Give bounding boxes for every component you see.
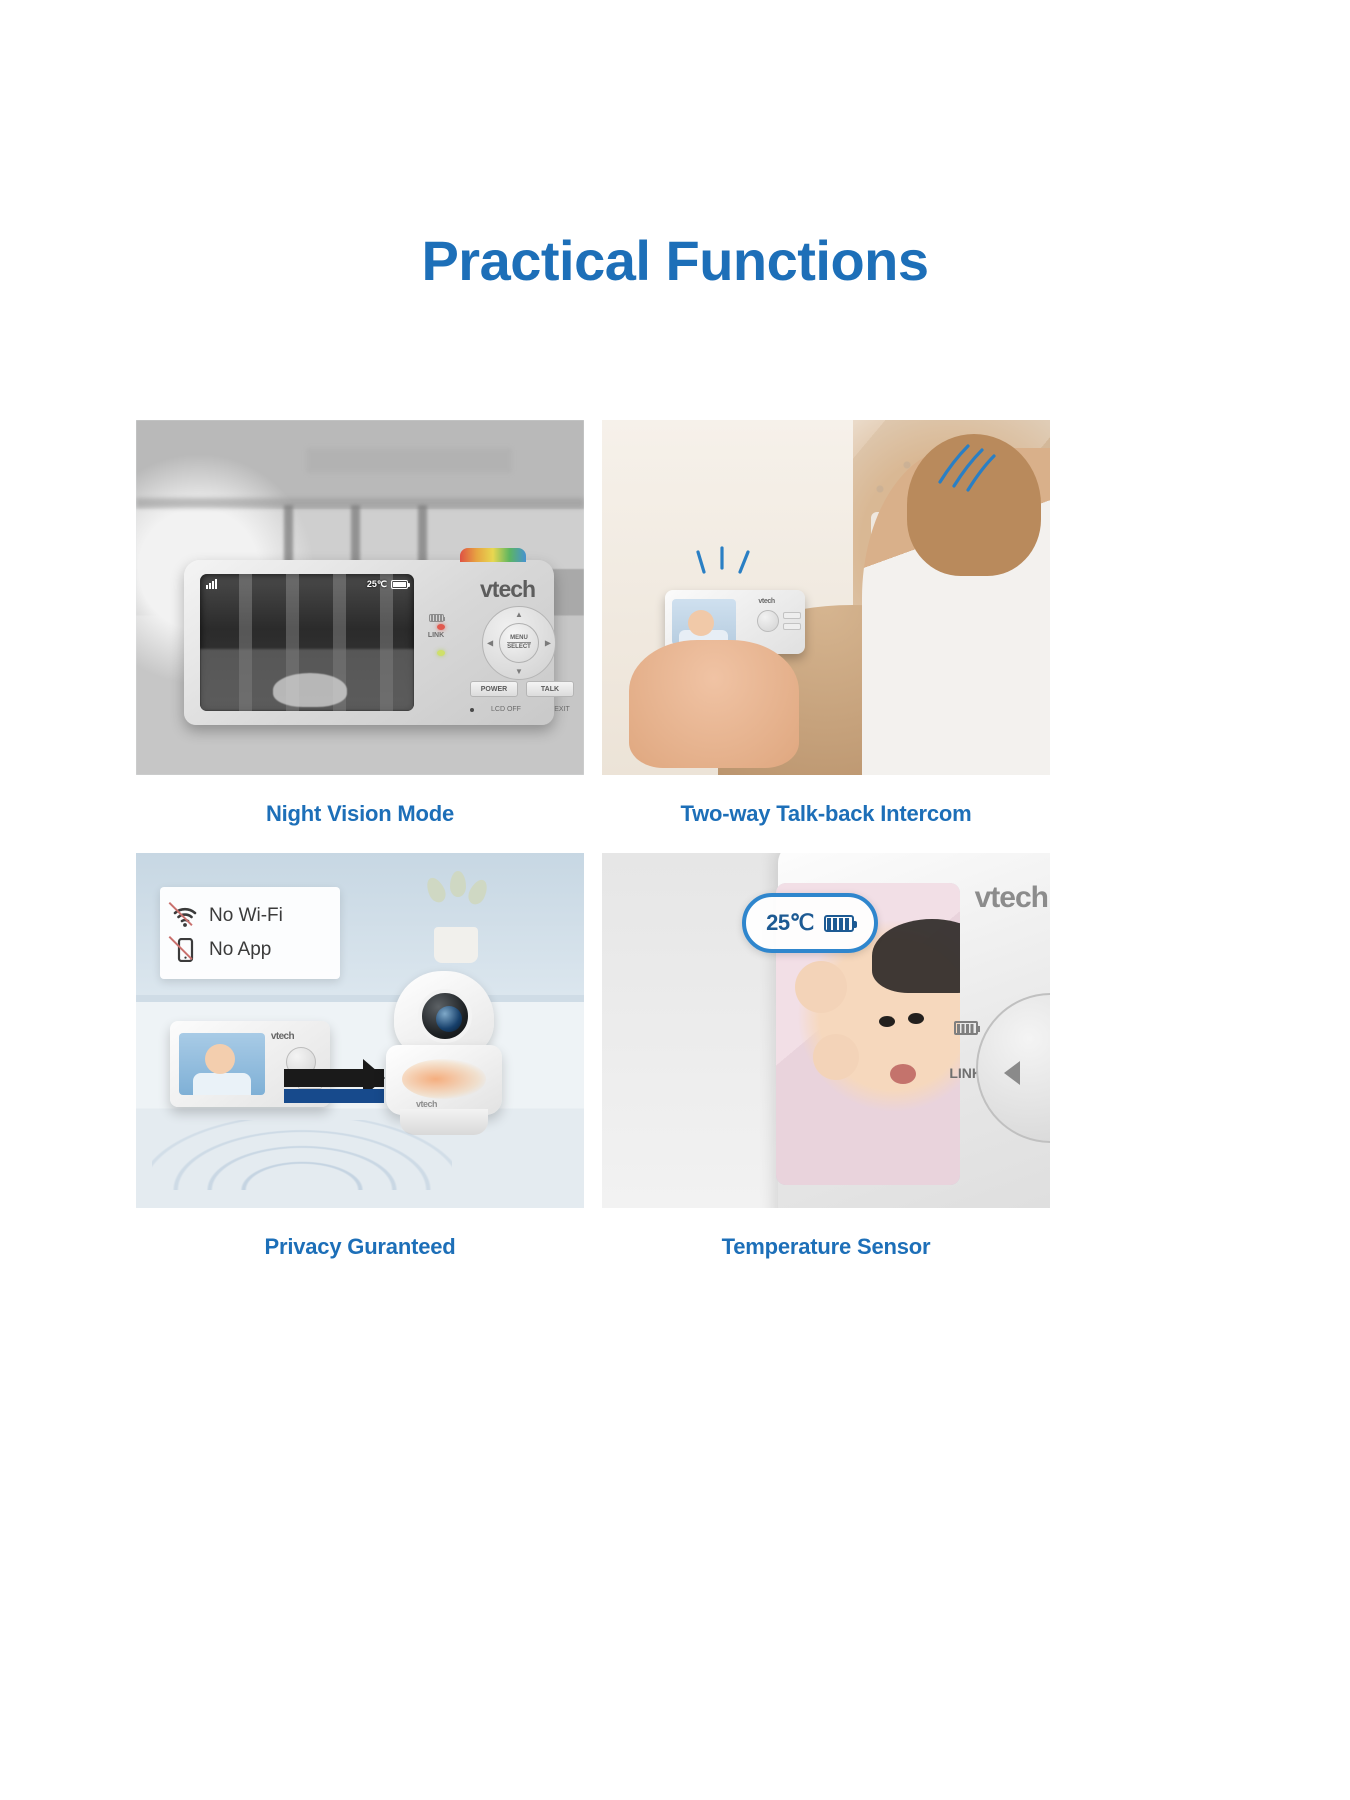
caption-temperature: Temperature Sensor: [602, 1208, 1050, 1286]
battery-full-icon: [824, 915, 854, 932]
baby-eye: [908, 1013, 924, 1024]
panel-privacy: No Wi-Fi No App: [136, 853, 584, 1208]
battery-icon: [954, 1021, 978, 1035]
control-area: vtech ▲ ▼ ◀ ▶ MENU SELECT: [458, 560, 554, 725]
monitor-screen: [179, 1033, 265, 1095]
leaf-shape: [465, 877, 490, 907]
battery-full-icon: [391, 580, 408, 589]
wifi-off-icon: [172, 904, 198, 928]
arrow-left-icon[interactable]: ◀: [487, 639, 493, 648]
baby-monitor-device: 25℃ LINK: [184, 560, 554, 725]
menu-label: MENU: [510, 635, 528, 643]
leaf-shape: [423, 875, 448, 905]
navigation-pad[interactable]: [757, 610, 779, 632]
temperature-badge: 25℃: [742, 893, 878, 953]
mic-hole-icon: [470, 708, 474, 712]
camera-unit: vtech: [386, 971, 502, 1143]
panel-temperature: vtech LINK 25: [602, 853, 1050, 1208]
pot-shape: [434, 927, 478, 963]
arrow-left-icon[interactable]: [992, 1061, 1020, 1085]
feature-cell-privacy: No Wi-Fi No App: [136, 853, 584, 1286]
leaf-shape: [450, 871, 466, 897]
badge-no-wifi-label: No Wi-Fi: [209, 905, 283, 927]
screen-osd-bar: 25℃: [200, 577, 414, 591]
brand-logo: vtech: [416, 1099, 437, 1109]
brand-logo: vtech: [480, 576, 535, 603]
badge-no-app: No App: [172, 938, 328, 962]
baby-hand: [813, 1034, 859, 1080]
select-label: SELECT: [507, 642, 531, 652]
feature-cell-night-vision: 25℃ LINK: [136, 420, 584, 853]
navigation-pad[interactable]: ▲ ▼ ◀ ▶ MENU SELECT: [482, 606, 556, 680]
caption-night-vision: Night Vision Mode: [136, 775, 584, 853]
feature-cell-intercom: vtech Two-way Talk-back Intercom: [602, 420, 1050, 853]
baby-hand: [795, 961, 847, 1013]
feature-row-2: No Wi-Fi No App: [136, 853, 1214, 1286]
phone-off-icon: [172, 938, 198, 962]
page-title: Practical Functions: [0, 228, 1350, 293]
arrow-down-icon[interactable]: ▼: [515, 667, 523, 676]
navigation-pad[interactable]: [976, 993, 1050, 1143]
button-sublabel-row: LCD OFF EXIT: [470, 706, 584, 713]
arrow-right-icon[interactable]: ▶: [545, 639, 551, 648]
privacy-badge-card: No Wi-Fi No App: [160, 887, 340, 979]
plant-decoration: [418, 871, 498, 963]
panel-night-vision: 25℃ LINK: [136, 420, 584, 775]
arrow-accent-bar: [284, 1089, 384, 1103]
baby-eye: [879, 1016, 895, 1027]
lcd-off-sublabel: LCD OFF: [482, 706, 530, 713]
camera-body: vtech: [386, 1045, 502, 1115]
feature-grid: 25℃ LINK: [136, 420, 1214, 1286]
panel-two-way-intercom: vtech: [602, 420, 1050, 775]
brand-logo: vtech: [758, 598, 774, 605]
monitor-screen: 25℃: [200, 574, 414, 711]
caption-privacy: Privacy Guranteed: [136, 1208, 584, 1286]
power-button[interactable]: [783, 612, 801, 619]
talk-button[interactable]: TALK: [526, 681, 574, 697]
exit-sublabel: EXIT: [538, 706, 584, 713]
speech-lines-icon: [694, 544, 764, 584]
brand-logo: vtech: [975, 881, 1048, 915]
product-feature-page: Practical Functions: [0, 0, 1350, 1800]
feature-row-1: 25℃ LINK: [136, 420, 1214, 853]
camera-lens-glass: [436, 1006, 462, 1032]
power-led-icon: [437, 624, 445, 630]
camera-lens-ring: [418, 989, 472, 1043]
caption-intercom: Two-way Talk-back Intercom: [602, 775, 1050, 853]
brand-logo: vtech: [271, 1031, 294, 1042]
badge-no-wifi: No Wi-Fi: [172, 904, 328, 928]
temperature-value: 25℃: [766, 910, 814, 936]
baby-mouth: [890, 1064, 916, 1084]
shelf-shape: [306, 448, 512, 473]
handheld-screen: [672, 599, 736, 645]
baby-face: [205, 1044, 235, 1074]
sleeping-baby: [273, 673, 347, 707]
signal-waves-decoration: [152, 1120, 452, 1190]
hand-shape: [629, 640, 799, 768]
hardware-button-row: POWER TALK: [470, 681, 574, 697]
osd-right-group: 25℃: [367, 579, 408, 590]
talk-button[interactable]: [783, 623, 801, 630]
battery-icon: [429, 614, 444, 622]
menu-select-button[interactable]: MENU SELECT: [499, 623, 539, 663]
osd-temperature: 25℃: [367, 579, 387, 590]
feature-cell-temperature: vtech LINK 25: [602, 853, 1050, 1286]
baby-body: [193, 1073, 251, 1095]
power-button[interactable]: POWER: [470, 681, 518, 697]
night-light-glow: [402, 1059, 486, 1099]
led-group: [437, 624, 445, 656]
arrow-right-icon: [284, 1069, 384, 1087]
badge-no-app-label: No App: [209, 939, 271, 961]
signal-bars-icon: [206, 579, 217, 589]
arrow-up-icon[interactable]: ▲: [515, 610, 523, 619]
sound-waves-icon: [928, 438, 998, 498]
indicator-column: LINK: [414, 560, 458, 725]
link-led-icon: [437, 650, 445, 656]
